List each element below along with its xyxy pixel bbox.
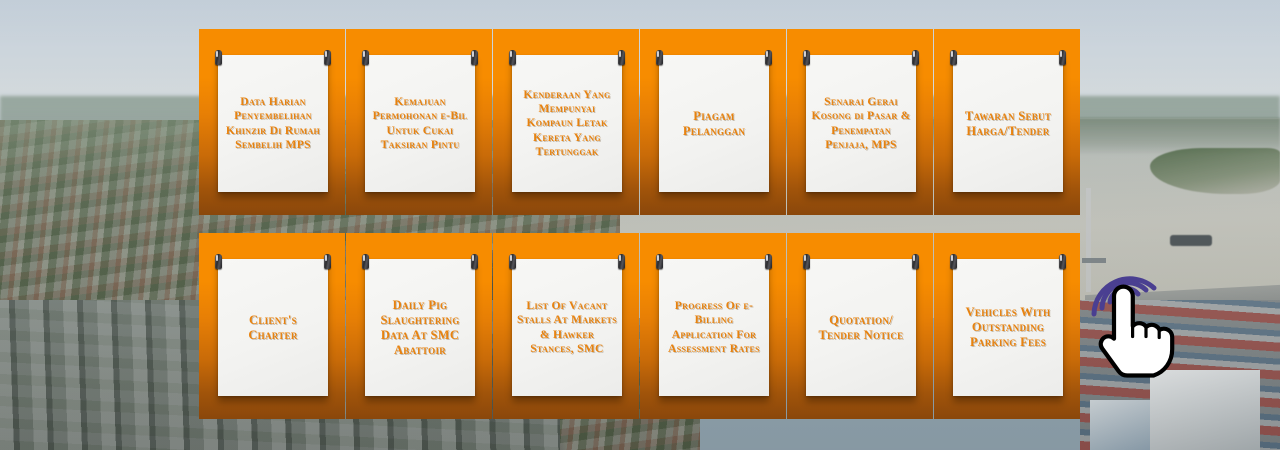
clip-pin-icon <box>912 50 919 65</box>
service-card-tawaran-sebut-harga-tender[interactable]: Tawaran Sebut Harga/Tender <box>934 29 1080 215</box>
clip-pin-icon <box>471 254 478 269</box>
card-title: Daily Pig Slaughtering Data At SMC Abatt… <box>370 298 470 358</box>
card-paper: Progress Of e-Billing Application For As… <box>659 259 769 396</box>
clip-pin-icon <box>509 50 516 65</box>
service-card-kemajuan-permohonan-e-bil[interactable]: Kemajuan Permohonan e-Bil Untuk Cukai Ta… <box>346 29 492 215</box>
card-title: Vehicles With Outstanding Parking Fees <box>958 305 1058 350</box>
clip-pin-icon <box>362 50 369 65</box>
card-row-1: Data Harian Penyembelihan Khinzir Di Rum… <box>199 29 1081 215</box>
card-title: Quotation/ Tender Notice <box>811 313 911 343</box>
service-card-clients-charter[interactable]: Client's Charter <box>199 233 345 419</box>
card-title: Piagam Pelanggan <box>664 109 764 139</box>
card-paper: List Of Vacant Stalls At Markets & Hawke… <box>512 259 622 396</box>
card-title: Tawaran Sebut Harga/Tender <box>958 109 1058 139</box>
clip-pin-icon <box>656 254 663 269</box>
card-title: List Of Vacant Stalls At Markets & Hawke… <box>517 299 617 356</box>
service-card-piagam-pelanggan[interactable]: Piagam Pelanggan <box>640 29 786 215</box>
clip-pin-icon <box>803 254 810 269</box>
clip-pin-icon <box>215 254 222 269</box>
card-paper: Kemajuan Permohonan e-Bil Untuk Cukai Ta… <box>365 55 475 192</box>
card-paper: Data Harian Penyembelihan Khinzir Di Rum… <box>218 55 328 192</box>
card-row-2: Client's Charter Daily Pig Slaughtering … <box>199 233 1081 419</box>
card-title: Kenderaan Yang Mempunyai Kompaun Letak K… <box>517 88 617 159</box>
page-root: Data Harian Penyembelihan Khinzir Di Rum… <box>0 0 1280 450</box>
clip-pin-icon <box>803 50 810 65</box>
clip-pin-icon <box>324 254 331 269</box>
clip-pin-icon <box>950 50 957 65</box>
card-paper: Kenderaan Yang Mempunyai Kompaun Letak K… <box>512 55 622 192</box>
card-title: Kemajuan Permohonan e-Bil Untuk Cukai Ta… <box>370 95 470 152</box>
clip-pin-icon <box>618 254 625 269</box>
clip-pin-icon <box>324 50 331 65</box>
clip-pin-icon <box>656 50 663 65</box>
card-title: Progress Of e-Billing Application For As… <box>664 299 764 356</box>
service-card-list-of-vacant-stalls[interactable]: List Of Vacant Stalls At Markets & Hawke… <box>493 233 639 419</box>
clip-pin-icon <box>618 50 625 65</box>
clip-pin-icon <box>471 50 478 65</box>
service-card-quotation-tender-notice[interactable]: Quotation/ Tender Notice <box>787 233 933 419</box>
service-card-data-harian-penyembelihan[interactable]: Data Harian Penyembelihan Khinzir Di Rum… <box>199 29 345 215</box>
card-paper: Piagam Pelanggan <box>659 55 769 192</box>
service-card-vehicles-with-outstanding-parking-fees[interactable]: Vehicles With Outstanding Parking Fees <box>934 233 1080 419</box>
service-card-kenderaan-kompaun-letak-kereta[interactable]: Kenderaan Yang Mempunyai Kompaun Letak K… <box>493 29 639 215</box>
clip-pin-icon <box>1059 254 1066 269</box>
clip-pin-icon <box>362 254 369 269</box>
service-card-progress-of-e-billing-application[interactable]: Progress Of e-Billing Application For As… <box>640 233 786 419</box>
card-paper: Vehicles With Outstanding Parking Fees <box>953 259 1063 396</box>
clip-pin-icon <box>509 254 516 269</box>
service-card-senarai-gerai-kosong[interactable]: Senarai Gerai Kosong di Pasar & Penempat… <box>787 29 933 215</box>
card-paper: Daily Pig Slaughtering Data At SMC Abatt… <box>365 259 475 396</box>
clip-pin-icon <box>765 254 772 269</box>
card-title: Client's Charter <box>223 313 323 343</box>
clip-pin-icon <box>1059 50 1066 65</box>
card-paper: Senarai Gerai Kosong di Pasar & Penempat… <box>806 55 916 192</box>
clip-pin-icon <box>215 50 222 65</box>
clip-pin-icon <box>950 254 957 269</box>
card-title: Data Harian Penyembelihan Khinzir Di Rum… <box>223 95 323 152</box>
card-title: Senarai Gerai Kosong di Pasar & Penempat… <box>811 95 911 152</box>
card-paper: Quotation/ Tender Notice <box>806 259 916 396</box>
service-card-grid: Data Harian Penyembelihan Khinzir Di Rum… <box>199 29 1081 420</box>
card-paper: Tawaran Sebut Harga/Tender <box>953 55 1063 192</box>
clip-pin-icon <box>912 254 919 269</box>
card-paper: Client's Charter <box>218 259 328 396</box>
clip-pin-icon <box>765 50 772 65</box>
service-card-daily-pig-slaughtering-data[interactable]: Daily Pig Slaughtering Data At SMC Abatt… <box>346 233 492 419</box>
